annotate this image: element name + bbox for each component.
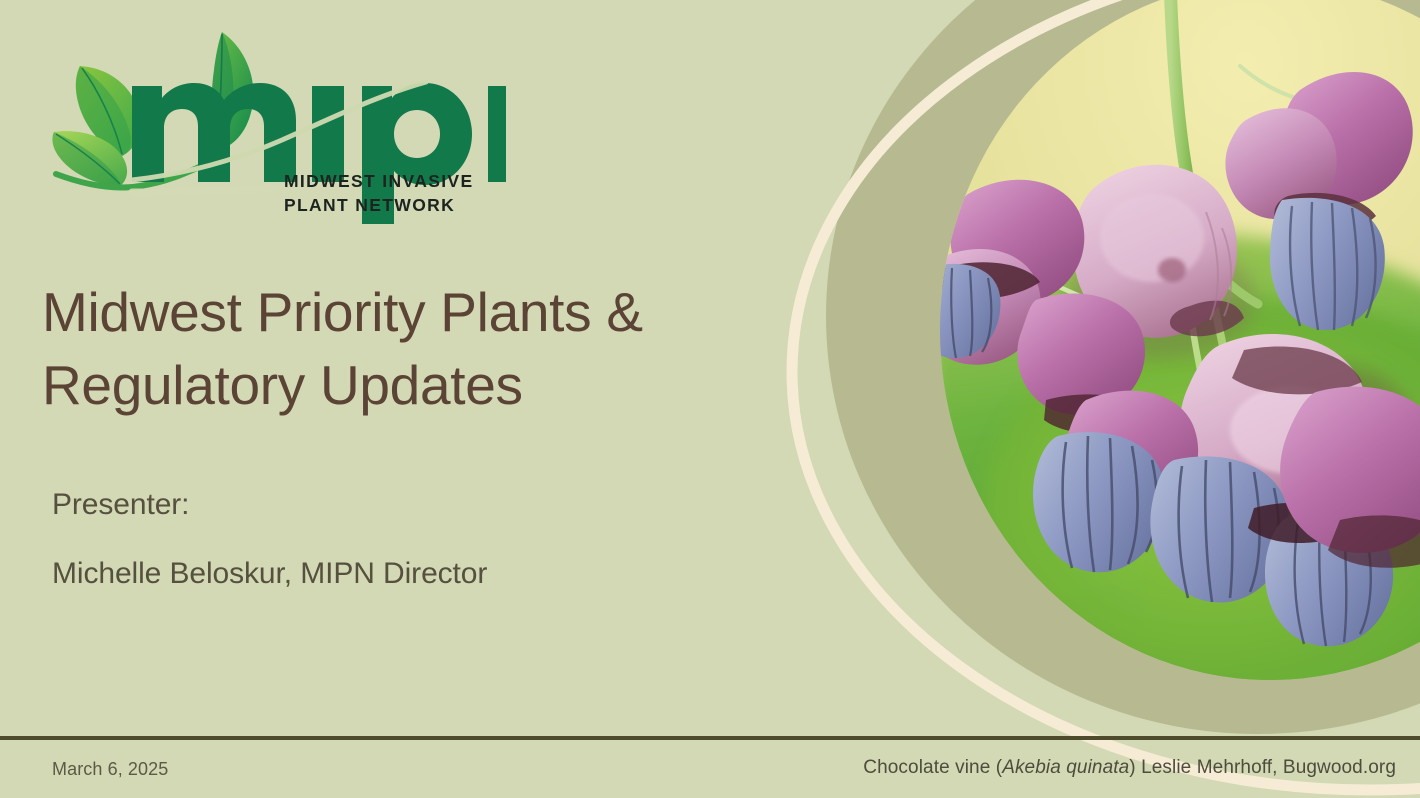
presenter-block: Presenter: Michelle Beloskur, MIPN Direc… (52, 485, 732, 594)
mipn-logo: MIDWEST INVASIVE PLANT NETWORK (36, 24, 506, 229)
presentation-slide: MIDWEST INVASIVE PLANT NETWORK Midwest P… (0, 0, 1420, 798)
photo-credit-suffix: ) Leslie Mehrhoff, Bugwood.org (1129, 757, 1396, 778)
slide-title-line2: Regulatory Updates (42, 349, 762, 422)
logo-subtitle: MIDWEST INVASIVE PLANT NETWORK (284, 169, 584, 217)
photo-credit: Chocolate vine (Akebia quinata) Leslie M… (863, 757, 1396, 779)
photo-credit-prefix: Chocolate vine ( (863, 757, 1002, 778)
footer-date: March 6, 2025 (52, 759, 168, 780)
logo-subtitle-line1: MIDWEST INVASIVE (284, 169, 584, 193)
slide-title: Midwest Priority Plants & Regulatory Upd… (42, 276, 762, 421)
logo-baseline-break (132, 186, 304, 192)
presenter-label: Presenter: (52, 485, 732, 526)
slide-title-line1: Midwest Priority Plants & (42, 276, 762, 349)
logo-subtitle-line2: PLANT NETWORK (284, 193, 584, 217)
carpel-bottom-left (1033, 432, 1165, 572)
photo-credit-scientific-name: Akebia quinata (1002, 757, 1129, 778)
footer-divider-rule (0, 736, 1420, 740)
presenter-name: Michelle Beloskur, MIPN Director (52, 554, 732, 595)
